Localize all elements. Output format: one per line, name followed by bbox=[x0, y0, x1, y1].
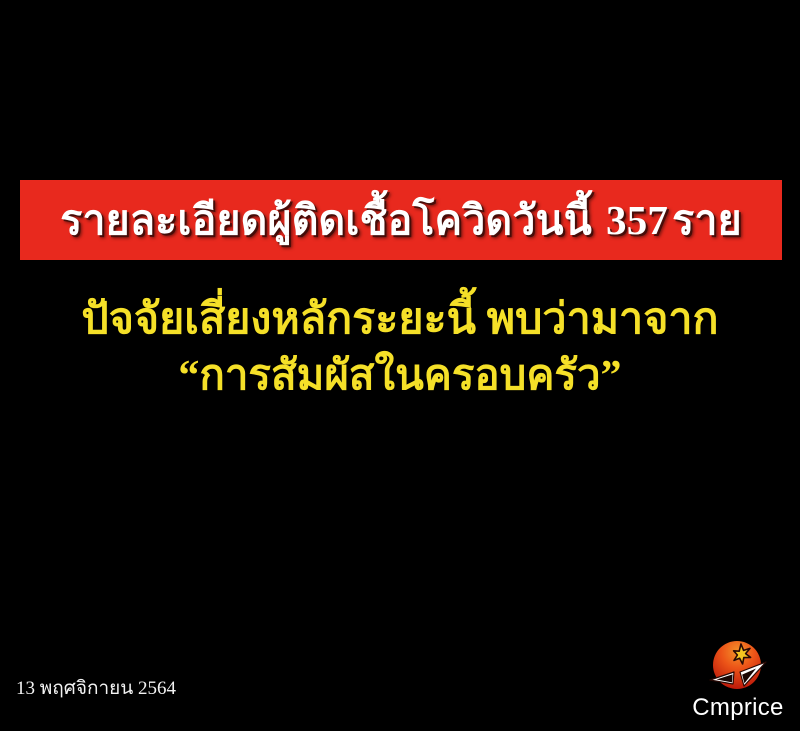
headline-banner: รายละเอียดผู้ติดเชื้อโควิดวันนี้ 357 ราย bbox=[20, 180, 782, 260]
date-stamp: 13 พฤศจิกายน 2564 bbox=[16, 679, 176, 698]
angry-face-mascot-icon bbox=[708, 636, 768, 692]
headline-case-unit: ราย bbox=[672, 200, 742, 241]
headline-title: รายละเอียดผู้ติดเชื้อโควิดวันนี้ bbox=[60, 200, 592, 241]
brand-logo: Cmprice bbox=[686, 636, 790, 724]
poster-canvas: รายละเอียดผู้ติดเชื้อโควิดวันนี้ 357 ราย… bbox=[0, 0, 800, 731]
headline-case-count: 357 bbox=[592, 200, 672, 241]
subheading-line-2: “การสัมผัสในครอบครัว” bbox=[0, 349, 800, 404]
brand-name: Cmprice bbox=[692, 696, 783, 720]
subheading-block: ปัจจัยเสี่ยงหลักระยะนี้ พบว่ามาจาก “การส… bbox=[0, 292, 800, 404]
subheading-line-1: ปัจจัยเสี่ยงหลักระยะนี้ พบว่ามาจาก bbox=[0, 292, 800, 349]
